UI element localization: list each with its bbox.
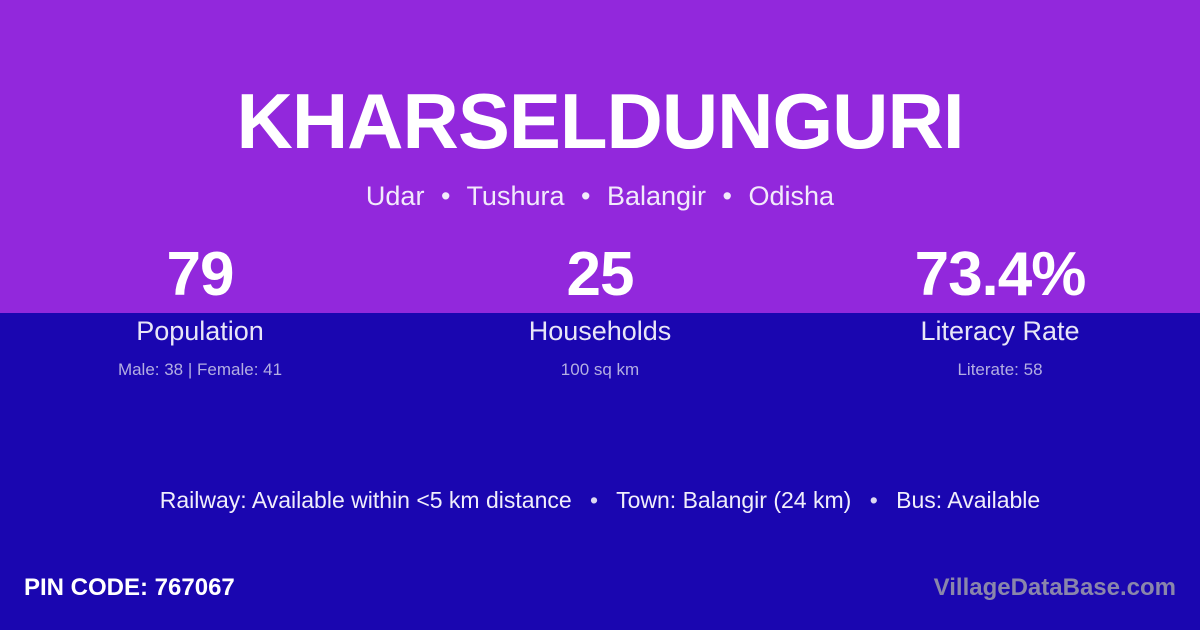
breadcrumb-separator: • — [432, 182, 459, 212]
stat-sub-literacy-rate: Literate: 58 — [800, 348, 1200, 382]
breadcrumb-item-state: Odisha — [749, 181, 835, 211]
breadcrumb-item-panchayat: Udar — [366, 181, 425, 211]
site-watermark: VillageDataBase.com — [934, 572, 1176, 604]
stat-label-households: Households — [400, 312, 800, 348]
stat-households: 25 Households 100 sq km — [400, 240, 800, 382]
stat-label-population: Population — [0, 312, 400, 348]
infra-separator: • — [858, 484, 890, 516]
stat-label-literacy-rate: Literacy Rate — [800, 312, 1200, 348]
infra-item-bus: Bus: Available — [896, 487, 1040, 513]
breadcrumb-item-district: Balangir — [607, 181, 706, 211]
infra-item-town: Town: Balangir (24 km) — [616, 487, 851, 513]
stat-sub-households: 100 sq km — [400, 348, 800, 382]
stat-literacy-rate: 73.4% Literacy Rate Literate: 58 — [800, 240, 1200, 382]
breadcrumb-separator: • — [572, 182, 599, 212]
pin-code: PIN CODE: 767067 — [24, 572, 235, 604]
stat-population: 79 Population Male: 38 | Female: 41 — [0, 240, 400, 382]
village-info-card: KHARSELDUNGURI Udar • Tushura • Balangir… — [0, 0, 1200, 630]
infrastructure-row: Railway: Available within <5 km distance… — [0, 484, 1200, 516]
breadcrumb: Udar • Tushura • Balangir • Odisha — [0, 182, 1200, 212]
breadcrumb-item-block: Tushura — [466, 181, 564, 211]
stats-row: 79 Population Male: 38 | Female: 41 25 H… — [0, 240, 1200, 382]
stat-sub-population: Male: 38 | Female: 41 — [0, 348, 400, 382]
infra-separator: • — [578, 484, 610, 516]
stat-value-population: 79 — [0, 240, 400, 312]
footer-bar: PIN CODE: 767067 VillageDataBase.com — [0, 558, 1200, 630]
infra-item-railway: Railway: Available within <5 km distance — [160, 487, 572, 513]
page-title: KHARSELDUNGURI — [0, 82, 1200, 160]
breadcrumb-separator: • — [714, 182, 741, 212]
stat-value-households: 25 — [400, 240, 800, 312]
stat-value-literacy-rate: 73.4% — [800, 240, 1200, 312]
